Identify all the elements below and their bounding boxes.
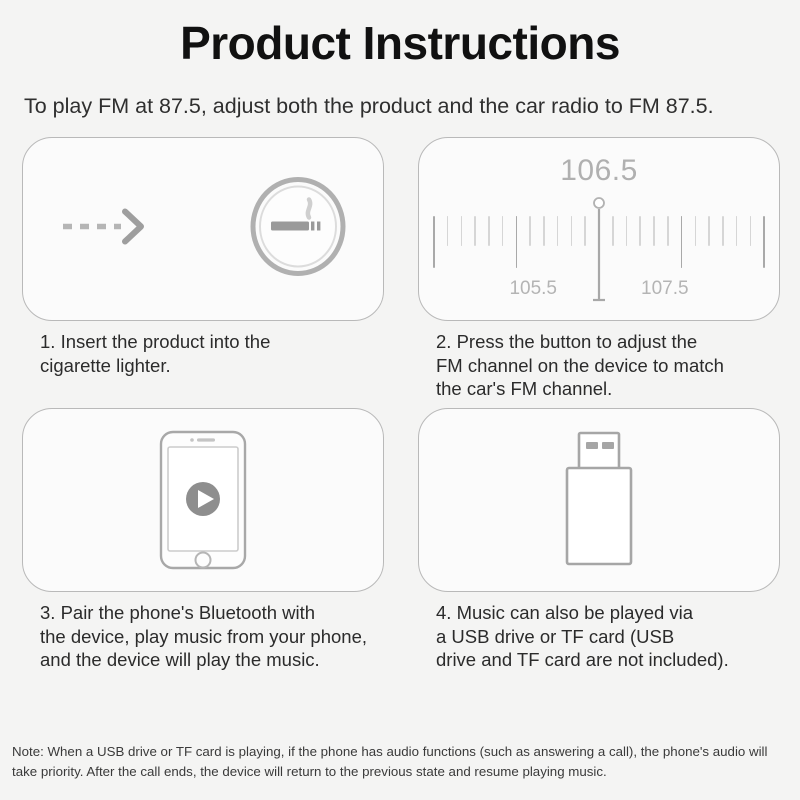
radio-tuner-dial-icon: 106.5: [419, 138, 779, 320]
cigarette-lighter-socket-icon: [247, 176, 349, 283]
tuner-scale-labels: 105.5 107.5: [419, 278, 779, 300]
usb-flash-drive-icon: [419, 409, 779, 591]
dashed-arrow-icon: [61, 207, 147, 252]
smartphone-play-icon: [23, 409, 383, 591]
tuner-tick: [639, 216, 641, 246]
page-title: Product Instructions: [0, 0, 800, 69]
footer-note: Note: When a USB drive or TF card is pla…: [0, 742, 800, 782]
step-4-illustration-panel: [418, 408, 780, 592]
tuner-tick: [763, 216, 765, 268]
tuner-label-right: 107.5: [641, 278, 689, 300]
tuner-tick: [543, 216, 545, 246]
tuner-label-left: 105.5: [509, 278, 557, 300]
tuner-tick: [708, 216, 710, 246]
tuner-tick: [447, 216, 449, 246]
tuner-tick: [681, 216, 683, 268]
step-3-illustration-panel: [22, 408, 384, 592]
step-1: 1. Insert the product into the cigarette…: [22, 137, 384, 406]
step-2: 106.5: [418, 137, 780, 406]
tuner-tick: [571, 216, 573, 246]
tuner-tick: [736, 216, 738, 246]
tuner-tick: [516, 216, 518, 268]
tuner-tick: [557, 216, 559, 246]
product-instructions-page: Product Instructions To play FM at 87.5,…: [0, 0, 800, 800]
step-2-caption: 2. Press the button to adjust the FM cha…: [418, 321, 780, 406]
tuner-tick: [722, 216, 724, 246]
tuner-tick: [612, 216, 614, 246]
tuner-tick: [529, 216, 531, 246]
step-3-caption: 3. Pair the phone's Bluetooth with the d…: [22, 592, 384, 677]
step-1-caption: 1. Insert the product into the cigarette…: [22, 321, 384, 406]
tuner-tick: [433, 216, 435, 268]
tuner-tick: [502, 216, 504, 246]
step-4: 4. Music can also be played via a USB dr…: [418, 408, 780, 677]
tuner-tick: [488, 216, 490, 246]
tuner-tick: [584, 216, 586, 246]
step-3: 3. Pair the phone's Bluetooth with the d…: [22, 408, 384, 677]
tuner-tick: [750, 216, 752, 246]
tuner-tick: [667, 216, 669, 246]
tuner-current-frequency: 106.5: [419, 154, 779, 188]
tuner-tick: [695, 216, 697, 246]
tuner-tick: [461, 216, 463, 246]
intro-text: To play FM at 87.5, adjust both the prod…: [0, 91, 800, 122]
tuner-tick: [653, 216, 655, 246]
steps-grid: 1. Insert the product into the cigarette…: [0, 137, 800, 677]
tuner-tick: [626, 216, 628, 246]
step-4-caption: 4. Music can also be played via a USB dr…: [418, 592, 780, 677]
step-2-illustration-panel: 106.5: [418, 137, 780, 321]
tuner-tick: [474, 216, 476, 246]
step-1-illustration-panel: [22, 137, 384, 321]
